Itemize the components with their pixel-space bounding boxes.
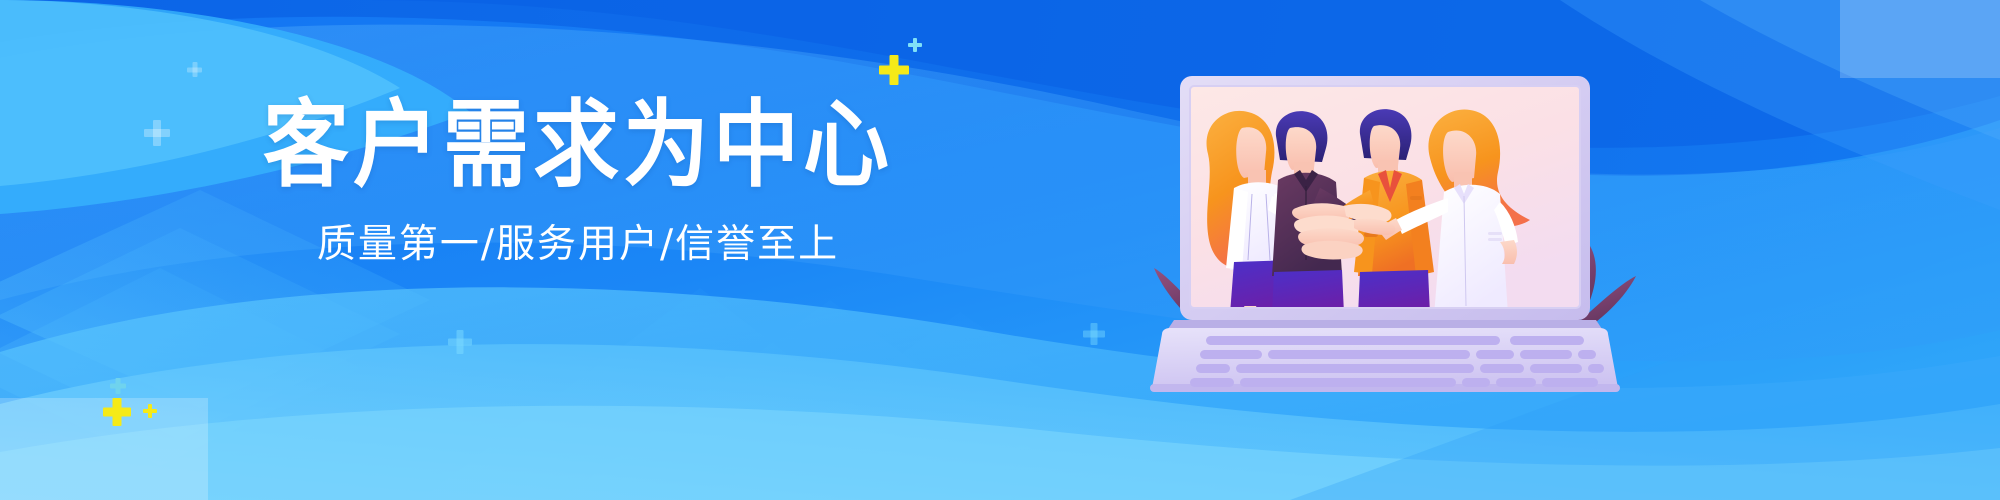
- page-subtitle: 质量第一/服务用户/信誉至上: [248, 213, 908, 269]
- page-title: 客户需求为中心: [248, 96, 908, 196]
- headline-block: 客户需求为中心 质量第一/服务用户/信誉至上: [248, 96, 908, 269]
- plus-cyan-bottom-mid-icon: [448, 330, 472, 354]
- plus-cyan-lower-icon: [110, 378, 126, 394]
- plus-white-small-icon: [187, 62, 202, 77]
- plus-cyan-upper-small-icon: [908, 38, 922, 52]
- plus-yellow-lower-icon: [103, 398, 131, 426]
- promo-banner: 客户需求为中心 质量第一/服务用户/信誉至上: [0, 0, 2000, 500]
- people-group: [1207, 109, 1530, 324]
- plus-cyan-bottom-right-icon: [1083, 323, 1105, 345]
- plus-white-mid-icon: [144, 120, 170, 146]
- plus-yellow-upper-icon: [879, 55, 909, 85]
- dot-grid-top-right: [1840, 0, 2000, 78]
- plus-yellow-lower-small-icon: [143, 404, 157, 418]
- teamwork-laptop-illustration: [1148, 62, 1648, 392]
